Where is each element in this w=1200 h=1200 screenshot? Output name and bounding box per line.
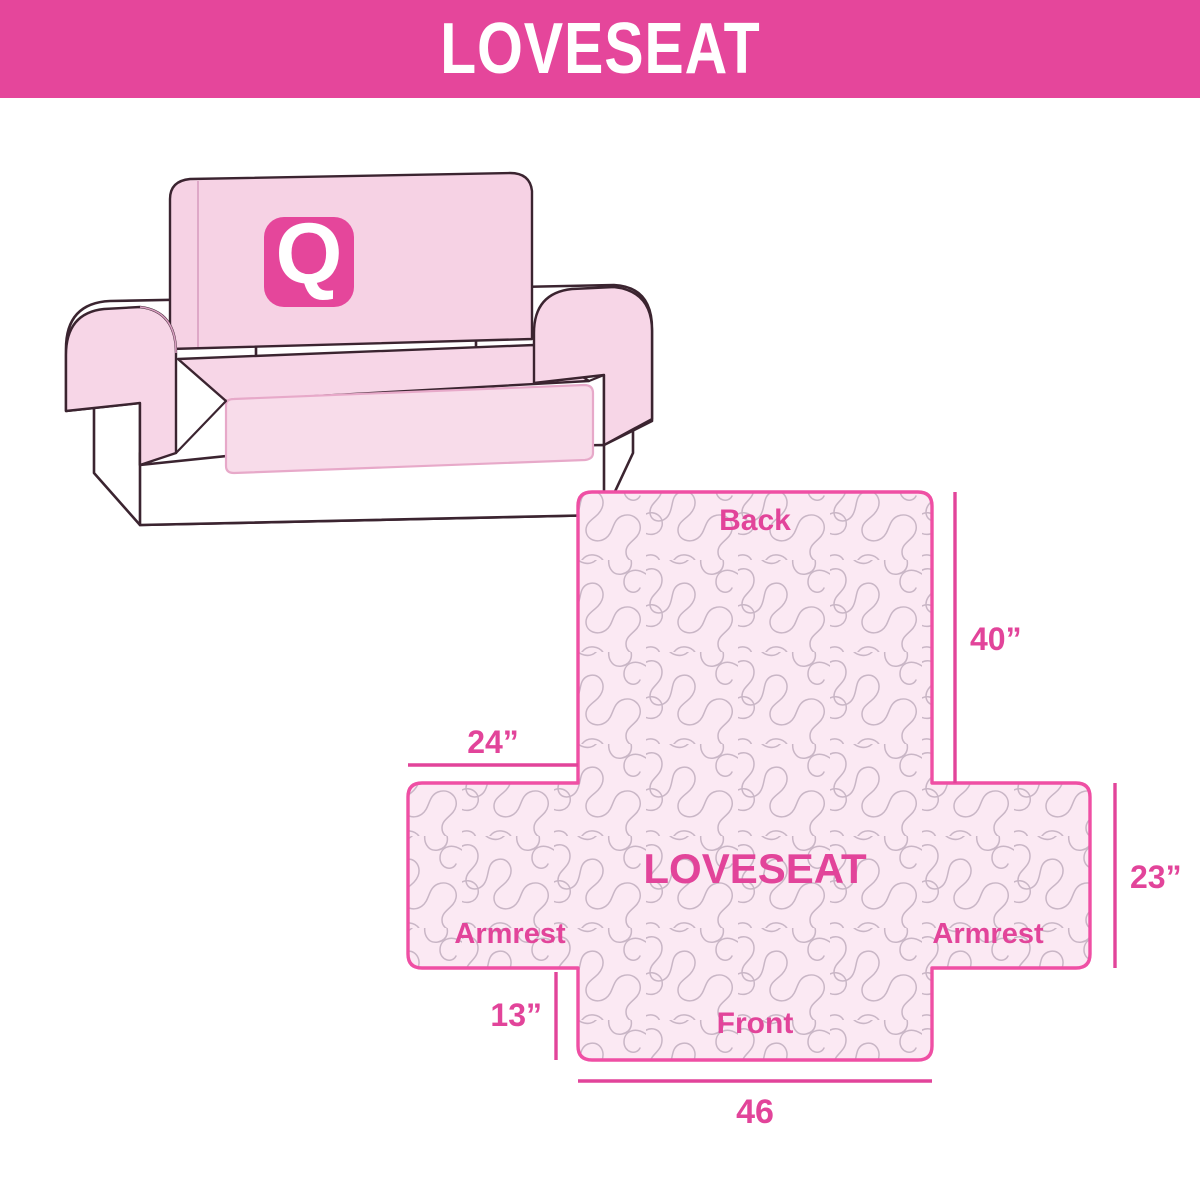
diagram-stage: Q [0,98,1200,1200]
logo-letter: Q [276,206,343,302]
dimension-label-13: 13” [490,997,542,1033]
panel-label-armrest-right: Armrest [932,918,1044,950]
panel-label-armrest-left: Armrest [454,918,566,950]
panel-label-front: Front [717,1007,794,1040]
dimension-label-40: 40” [970,621,1022,657]
page-title: LOVESEAT [440,13,760,85]
dimension-armrest-height: 23” [1115,783,1182,968]
slipcover-flat-shape [408,492,1090,1060]
panel-label-back: Back [719,504,791,537]
flat-layout-diagram: Back LOVESEAT Armrest Armrest Front 40” … [370,468,1200,1148]
dimension-front-drop: 13” [490,972,556,1060]
dimension-back-height: 40” [955,492,1022,783]
flat-layout-center-label: LOVESEAT [643,845,867,892]
dimension-label-24: 24” [467,724,519,760]
dimension-label-23: 23” [1130,859,1182,895]
dimension-label-46: 46 [736,1093,774,1131]
cover-front-skirt [226,385,593,473]
dimension-total-width: 46 [578,1081,932,1131]
header-banner: LOVESEAT [0,0,1200,98]
dimension-back-width: 24” [408,724,578,765]
brand-logo: Q [264,206,354,307]
